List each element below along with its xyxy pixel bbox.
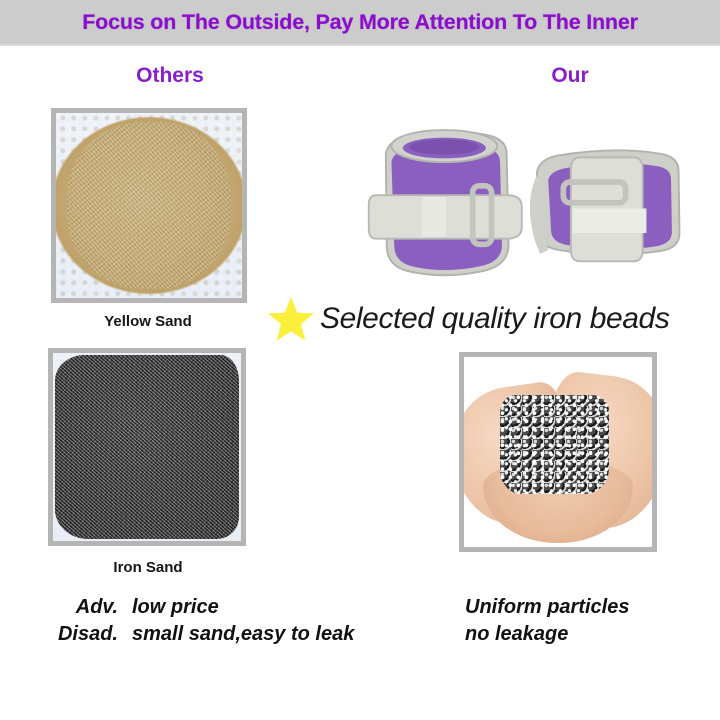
header-banner: Focus on The Outside, Pay More Attention…	[0, 0, 720, 46]
feature-value-adv: low price	[132, 596, 219, 619]
column-heading-our: Our	[470, 64, 670, 88]
callout-text: Selected quality iron beads	[320, 302, 669, 336]
ankle-weights-image	[348, 104, 688, 294]
callout-row: Selected quality iron beads	[266, 294, 720, 344]
iron-sand-photo-frame	[48, 348, 246, 546]
iron-sand-caption: Iron Sand	[48, 559, 248, 576]
page-title: Focus on The Outside, Pay More Attention…	[82, 10, 638, 35]
feature-label-adv: Adv.	[34, 596, 132, 619]
features-others: Adv. low price Disad. small sand,easy to…	[34, 596, 434, 650]
features-our: Uniform particles no leakage	[465, 596, 715, 650]
feature-value-disad: small sand,easy to leak	[132, 623, 354, 646]
iron-beads-image	[464, 357, 652, 547]
star-icon	[266, 295, 316, 343]
yellow-sand-caption: Yellow Sand	[48, 313, 248, 330]
feature-line: no leakage	[465, 623, 715, 646]
yellow-sand-image	[56, 113, 242, 298]
feature-row: Adv. low price	[34, 596, 434, 619]
yellow-sand-photo-frame	[51, 108, 247, 303]
feature-row: Disad. small sand,easy to leak	[34, 623, 434, 646]
feature-line: Uniform particles	[465, 596, 715, 619]
iron-sand-image	[53, 353, 241, 541]
column-heading-others: Others	[60, 64, 280, 88]
iron-beads-pile	[500, 395, 609, 494]
iron-beads-photo-frame	[459, 352, 657, 552]
feature-label-disad: Disad.	[34, 623, 132, 646]
